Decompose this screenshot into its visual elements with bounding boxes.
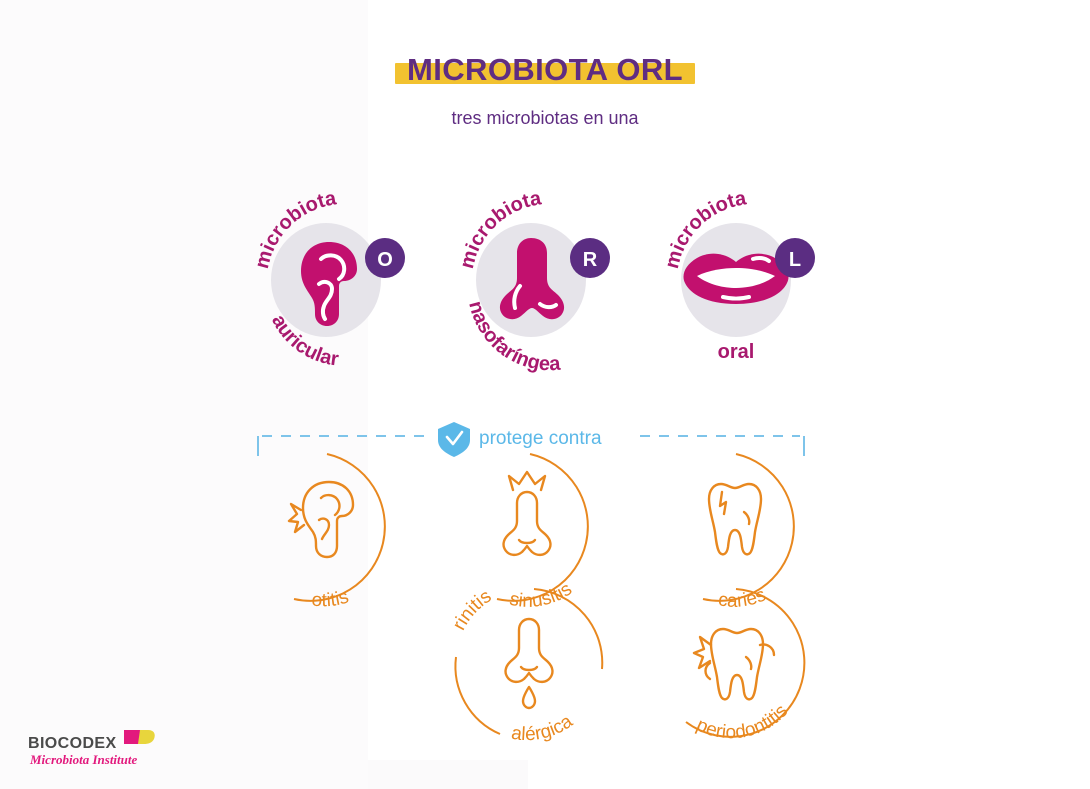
microbiota-badge-letter: L bbox=[789, 249, 801, 271]
page-title: MICROBIOTA ORL bbox=[407, 52, 683, 87]
disease-ring-upper bbox=[534, 589, 602, 669]
disease-card-periodontitis[interactable]: periodontitis bbox=[656, 583, 816, 743]
background-tint-bottom bbox=[368, 760, 528, 789]
logo-mark-icon bbox=[124, 730, 155, 744]
disease-ring-lower bbox=[455, 657, 500, 734]
disease-card-rinitis-alergica[interactable]: rinitis alérgica bbox=[450, 583, 610, 743]
microbiota-badge-letter: R bbox=[583, 249, 598, 271]
microbiota-bottom-label: oral bbox=[718, 341, 755, 363]
disease-ring bbox=[703, 454, 794, 601]
disease-ring bbox=[294, 454, 385, 601]
microbiota-card-oral[interactable]: L microbiota oral bbox=[655, 180, 855, 380]
disease-label: periodontitis bbox=[693, 701, 792, 743]
microbiota-card-nasofaringea[interactable]: R microbiota nasofaríngea bbox=[450, 180, 650, 380]
disease-card-otitis[interactable]: otitis bbox=[247, 448, 407, 608]
page-title-block: MICROBIOTA ORL bbox=[0, 52, 1090, 88]
microbiota-card-auricular[interactable]: O microbiota auricular bbox=[245, 180, 445, 380]
logo-tagline: Microbiota Institute bbox=[29, 752, 137, 767]
ear-outline-icon bbox=[289, 482, 353, 557]
microbiota-row: O microbiota auricular bbox=[0, 180, 1090, 380]
tooth-pain-outline-icon bbox=[694, 629, 774, 699]
page-subtitle: tres microbiotas en una bbox=[0, 108, 1090, 129]
microbiota-badge-letter: O bbox=[377, 249, 393, 271]
infographic-canvas: MICROBIOTA ORL tres microbiotas en una bbox=[0, 0, 1090, 789]
nose-drip-outline-icon bbox=[506, 619, 553, 708]
biocodex-logo[interactable]: BIOCODEX Microbiota Institute bbox=[28, 728, 178, 773]
divider-label: protege contra bbox=[479, 428, 602, 449]
disease-label-top: rinitis bbox=[450, 586, 495, 634]
disease-label: otitis bbox=[311, 587, 352, 608]
tooth-outline-icon bbox=[709, 484, 761, 554]
nose-crown-outline-icon bbox=[504, 472, 551, 555]
logo-brand: BIOCODEX bbox=[28, 735, 117, 752]
disease-label-bottom: alérgica bbox=[510, 711, 577, 743]
